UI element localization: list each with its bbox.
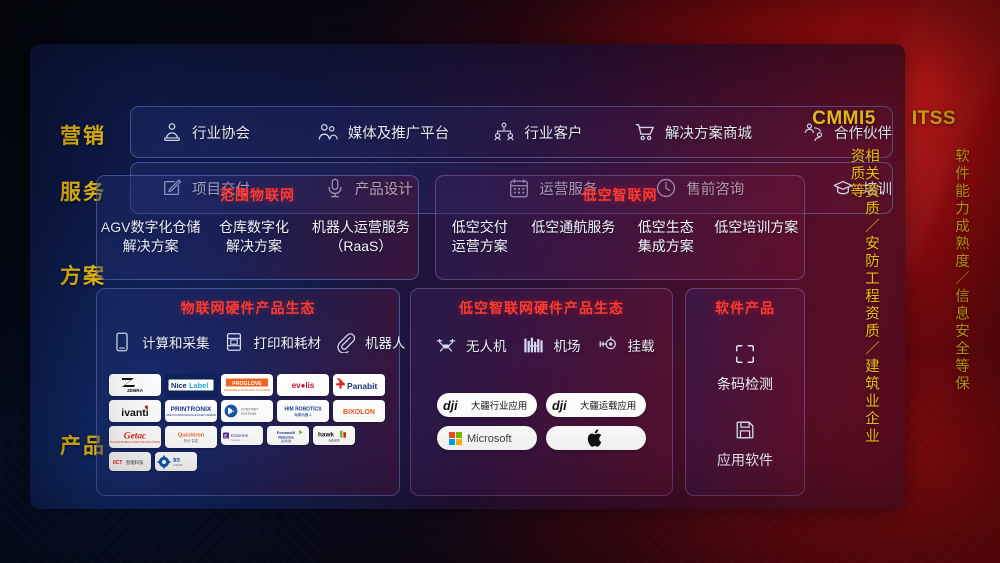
svg-text:RUGGED MOBILE COMPUTING SOLUTI: RUGGED MOBILE COMPUTING SOLUTIONS <box>110 441 160 444</box>
ivanti-logo-icon: ivanti <box>110 404 160 418</box>
media-promotion-icon <box>317 121 339 143</box>
svg-text:SYSTEMS: SYSTEMS <box>241 412 256 416</box>
bixolon-logo-icon: BIXOLON <box>334 404 384 418</box>
pill-dji-transport[interactable]: dji 大疆运载应用 <box>546 393 646 417</box>
solution-item-lowalt-3[interactable]: 低空培训方案 <box>709 218 804 256</box>
product-lowalt-icon-1[interactable]: 机场 <box>523 334 581 356</box>
logo-lanxin[interactable]: 蓝芯 LANXIN <box>155 452 197 471</box>
microsoft-logo-icon: Microsoft <box>441 429 533 447</box>
logo-quicktron[interactable]: Quicktron 快仓 智能 <box>165 426 217 448</box>
logo-iict[interactable]: IICT 智能科技 <box>109 452 151 471</box>
marketing-item-2[interactable]: 行业客户 <box>493 121 634 143</box>
printronix-logo-icon: PRINTRONIX PRINTS PERFORMANCE EVERYWHERE <box>166 403 216 419</box>
certification-cmmi5-title: CMMI5 <box>810 108 878 130</box>
partner-logo-grid: ZEBRA Nice Label PROGLOVE WEARABLE BARCO… <box>109 374 389 471</box>
apple-logo-icon <box>587 428 605 448</box>
solution-item-lowalt-1[interactable]: 低空通航服务 <box>524 218 623 256</box>
product-iot-icon-1-label: 打印和耗材 <box>254 332 322 352</box>
logo-hawk[interactable]: hawk 海康威视 <box>313 426 355 445</box>
svg-text:Microsoft: Microsoft <box>467 433 512 445</box>
marketing-item-1-label: 媒体及推广平台 <box>348 122 450 143</box>
marketing-card[interactable]: 行业协会 媒体及推广平台 <box>130 106 893 158</box>
marketing-item-3[interactable]: 解决方案商城 <box>634 121 803 143</box>
zebra-logo-icon: ZEBRA <box>114 376 156 394</box>
product-group-lowalt-hardware[interactable]: 低空智联网硬件产品生态 无人机 <box>410 288 673 496</box>
nicelabel-logo-icon: Nice Label <box>167 378 215 392</box>
logo-printronix[interactable]: PRINTRONIX PRINTS PERFORMANCE EVERYWHERE <box>165 400 217 422</box>
pill-microsoft[interactable]: Microsoft <box>437 426 537 450</box>
dji-industry-logo-icon: dji 大疆行业应用 <box>441 397 533 413</box>
svg-text:ivanti: ivanti <box>121 407 149 418</box>
logo-proglove[interactable]: PROGLOVE WEARABLE BARCODE SCANNER <box>221 374 273 396</box>
solution-item-iot-1[interactable]: 仓库数字化解决方案 <box>204 218 303 256</box>
drone-icon <box>435 334 457 356</box>
industry-customer-icon <box>493 121 515 143</box>
solution-group-iot-title: 范围物联网 <box>97 185 418 205</box>
solution-group-lowalt-title: 低空智联网 <box>436 185 804 205</box>
svg-text:PRINTS PERFORMANCE EVERYWHERE: PRINTS PERFORMANCE EVERYWHERE <box>166 413 216 417</box>
dji-transport-logo-icon: dji 大疆运载应用 <box>550 397 642 413</box>
row-label-marketing: 营销 <box>44 120 122 150</box>
svg-text:大疆行业应用: 大疆行业应用 <box>471 400 527 411</box>
svg-text:Panabit: Panabit <box>347 381 377 391</box>
airport-icon <box>523 334 545 356</box>
extreme-logo-icon: E Extreme networks <box>222 429 262 443</box>
svg-text:大疆运载应用: 大疆运载应用 <box>580 400 636 411</box>
shopping-cart-icon <box>634 121 656 143</box>
product-group-iot-title: 物联网硬件产品生态 <box>97 298 399 318</box>
cs-logo-icon: S CONSTANT SYSTEMS <box>222 403 272 419</box>
svg-text:ev●lis: ev●lis <box>292 381 315 390</box>
product-iot-icon-2[interactable]: 机器人 <box>334 331 406 353</box>
logo-forwardx[interactable]: ForwardX Robotics 灵动科技 <box>267 426 309 445</box>
marketing-item-0-label: 行业协会 <box>192 122 250 143</box>
product-lowalt-icon-1-label: 机场 <box>554 335 581 355</box>
floppy-disk-icon <box>734 419 756 441</box>
svg-text:海康机器人: 海康机器人 <box>294 412 312 417</box>
forwardx-robotics-logo-icon: ForwardX Robotics 灵动科技 <box>268 428 308 443</box>
logo-extreme[interactable]: E Extreme networks <box>221 426 263 445</box>
svg-text:ForwardX: ForwardX <box>277 430 296 435</box>
software-item-app[interactable]: 应用软件 <box>686 419 804 470</box>
svg-text:IICT: IICT <box>113 460 122 466</box>
getac-logo-icon: Getac RUGGED MOBILE COMPUTING SOLUTIONS <box>110 429 160 445</box>
svg-text:WEARABLE BARCODE SCANNER: WEARABLE BARCODE SCANNER <box>224 388 270 392</box>
svg-text:CONSTANT: CONSTANT <box>241 407 258 411</box>
logo-bixolon[interactable]: BIXOLON <box>333 400 385 422</box>
lanxin-gear-logo-icon: 蓝芯 LANXIN <box>156 455 196 469</box>
printer-icon <box>223 331 245 353</box>
svg-text:dji: dji <box>443 399 458 413</box>
logo-getac[interactable]: Getac RUGGED MOBILE COMPUTING SOLUTIONS <box>109 426 161 448</box>
svg-text:LANXIN: LANXIN <box>173 463 182 467</box>
logo-panabit[interactable]: Panabit <box>333 374 385 396</box>
paperclip-robot-icon <box>334 331 356 353</box>
product-group-software[interactable]: 软件产品 条码检测 应用软件 <box>685 288 805 496</box>
svg-text:S: S <box>232 409 236 415</box>
mobile-device-icon <box>111 331 133 353</box>
svg-text:PROGLOVE: PROGLOVE <box>232 381 262 387</box>
certification-itss-title: ITSS <box>900 108 968 130</box>
svg-text:Getac: Getac <box>124 432 147 442</box>
logo-evolis[interactable]: ev●lis <box>277 374 329 396</box>
proglove-logo-icon: PROGLOVE WEARABLE BARCODE SCANNER <box>223 376 271 394</box>
svg-text:dji: dji <box>552 399 567 413</box>
pill-dji-industry[interactable]: dji 大疆行业应用 <box>437 393 537 417</box>
pill-apple[interactable] <box>546 426 646 450</box>
slide-background: 营销 行业协会 <box>0 0 1000 563</box>
logo-ivanti[interactable]: ivanti <box>109 400 161 422</box>
marketing-item-1[interactable]: 媒体及推广平台 <box>317 121 494 143</box>
svg-text:智能科技: 智能科技 <box>126 459 144 466</box>
svg-text:Extreme: Extreme <box>231 433 249 438</box>
evolis-logo-icon: ev●lis <box>279 378 327 392</box>
logo-him-robotics[interactable]: HIM ROBOTICS 海康机器人 <box>277 400 329 422</box>
marketing-item-3-label: 解决方案商城 <box>665 122 752 143</box>
solution-item-lowalt-0[interactable]: 低空交付运营方案 <box>436 218 524 256</box>
svg-text:蓝芯: 蓝芯 <box>173 457 181 462</box>
svg-text:hawk: hawk <box>318 432 334 439</box>
svg-text:BIXOLON: BIXOLON <box>343 409 375 416</box>
marketing-item-2-label: 行业客户 <box>524 122 582 143</box>
svg-text:Nice: Nice <box>171 381 187 390</box>
architecture-panel: 营销 行业协会 <box>30 44 905 509</box>
svg-text:PRINTRONIX: PRINTRONIX <box>171 406 212 413</box>
solution-group-iot[interactable]: 范围物联网 AGV数字化仓储解决方案 仓库数字化解决方案 机器人运营服务（Raa… <box>96 175 419 280</box>
certification-itss-text: 软件能力成熟度／信息安全等保 <box>900 148 968 448</box>
svg-text:Label: Label <box>189 381 208 390</box>
logo-zebra[interactable]: ZEBRA <box>109 374 161 396</box>
svg-text:快仓 智能: 快仓 智能 <box>184 438 199 443</box>
hawk-logo-icon: hawk 海康威视 <box>314 428 354 443</box>
svg-text:灵动科技: 灵动科技 <box>281 439 292 443</box>
product-iot-icon-0-label: 计算和采集 <box>142 332 210 352</box>
software-item-app-label: 应用软件 <box>717 452 773 468</box>
him-robotics-logo-icon: HIM ROBOTICS 海康机器人 <box>278 403 328 419</box>
svg-text:ZEBRA: ZEBRA <box>127 388 144 393</box>
quicktron-logo-icon: Quicktron 快仓 智能 <box>166 429 216 445</box>
svg-text:E: E <box>224 433 227 438</box>
certification-cmmi5[interactable]: CMMI5 相关资质／安防工程资质／建筑业企业资质等 <box>810 44 878 509</box>
panabit-logo-icon: Panabit <box>334 378 384 392</box>
industry-association-icon <box>161 121 183 143</box>
marketing-item-0[interactable]: 行业协会 <box>161 121 317 143</box>
certification-cmmi5-text: 相关资质／安防工程资质／建筑业企业资质等 <box>810 148 878 448</box>
barcode-scan-icon <box>734 343 756 365</box>
product-group-software-title: 软件产品 <box>686 298 804 318</box>
product-lowalt-icon-0[interactable]: 无人机 <box>435 334 507 356</box>
product-iot-icon-1[interactable]: 打印和耗材 <box>223 331 322 353</box>
certification-itss[interactable]: ITSS 软件能力成熟度／信息安全等保 <box>900 44 968 509</box>
product-group-lowalt-title: 低空智联网硬件产品生态 <box>411 298 672 318</box>
software-item-barcode[interactable]: 条码检测 <box>686 343 804 394</box>
logo-nicelabel[interactable]: Nice Label <box>165 374 217 396</box>
solution-item-lowalt-2[interactable]: 低空生态集成方案 <box>623 218 709 256</box>
product-iot-icon-2-label: 机器人 <box>365 332 406 352</box>
svg-text:海康威视: 海康威视 <box>328 439 339 443</box>
product-group-iot-hardware[interactable]: 物联网硬件产品生态 计算和采集 打印和耗材 <box>96 288 400 496</box>
solution-group-lowalt[interactable]: 低空智联网 低空交付运营方案 低空通航服务 低空生态集成方案 低空培训方案 <box>435 175 805 280</box>
solution-item-iot-0[interactable]: AGV数字化仓储解决方案 <box>97 218 204 256</box>
product-lowalt-icon-2[interactable]: 挂载 <box>597 334 655 356</box>
payload-icon <box>597 334 619 356</box>
logo-cs[interactable]: S CONSTANT SYSTEMS <box>221 400 273 422</box>
svg-text:networks: networks <box>231 439 241 442</box>
svg-text:Quicktron: Quicktron <box>178 433 205 439</box>
svg-text:HIM ROBOTICS: HIM ROBOTICS <box>285 406 323 412</box>
solution-item-iot-2[interactable]: 机器人运营服务（RaaS） <box>304 218 418 256</box>
software-item-barcode-label: 条码检测 <box>717 376 773 392</box>
product-lowalt-icon-0-label: 无人机 <box>466 335 507 355</box>
iict-logo-icon: IICT 智能科技 <box>110 456 150 468</box>
svg-text:Robotics: Robotics <box>278 436 293 440</box>
product-lowalt-icon-2-label: 挂载 <box>628 335 655 355</box>
product-iot-icon-0[interactable]: 计算和采集 <box>111 331 210 353</box>
